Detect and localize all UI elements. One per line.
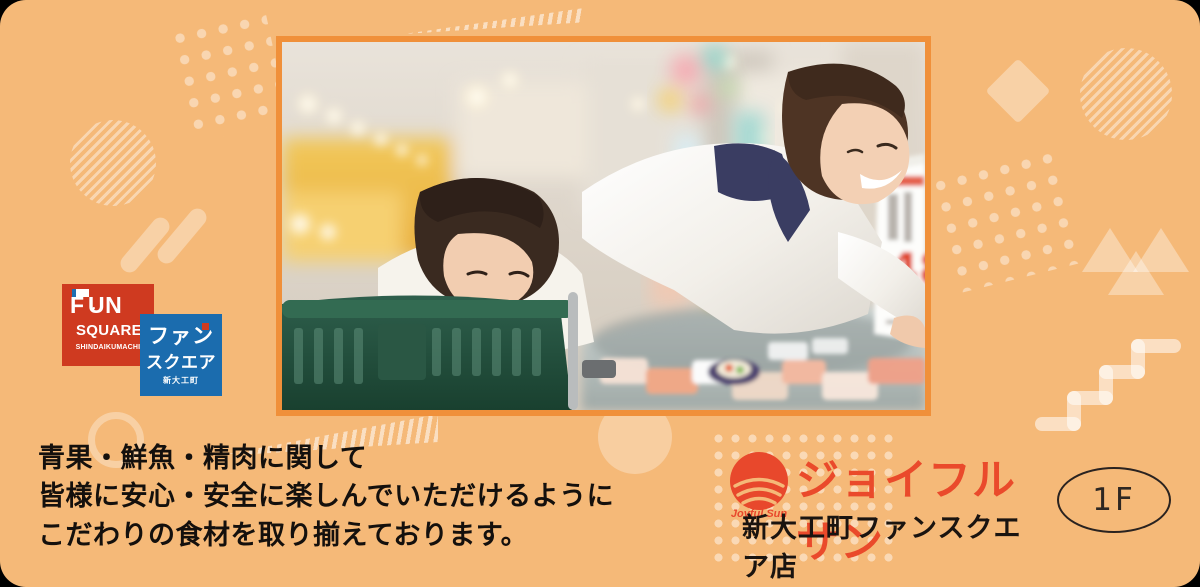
sun-icon <box>728 450 790 512</box>
square-wordmark: SQUARE <box>69 322 149 339</box>
tagline-line-2: 皆様に安心・安全に楽しんでいただけるように <box>38 478 658 516</box>
diagonal-bar-a <box>117 214 173 276</box>
striped-circle-left <box>70 120 156 206</box>
diamond-shape-right <box>985 58 1050 123</box>
fan-square-sub-label: 新大工町 <box>151 374 211 387</box>
staircase-line-shape <box>1035 325 1195 430</box>
red-tip-accent <box>202 323 209 330</box>
store-photo-frame: 480 51 <box>276 36 931 416</box>
heart-icon: ♥ <box>90 305 95 314</box>
striped-wedge-top <box>404 8 584 34</box>
dot-grid-pattern-right <box>927 146 1082 294</box>
fun-square-logo-group: F UN ♥ SQUARE SHINDAIKUMACHI ファン スクエア 新大… <box>62 284 232 396</box>
joyful-sun-brand: Joyful Sun ジョイフルサン 新大工町ファンスクエア店 <box>728 448 1038 543</box>
fan-square-line1: ファン <box>140 320 222 350</box>
floor-badge: 1F <box>1057 467 1171 533</box>
striped-circle-right <box>1080 48 1172 140</box>
triangle-shape-a <box>1082 228 1138 272</box>
fan-square-line2: スクエア <box>140 348 222 373</box>
store-photo: 480 51 <box>282 42 925 410</box>
flag-icon <box>72 289 89 297</box>
tagline-line-3: こだわりの食材を取り揃えております。 <box>38 517 658 555</box>
triangle-shape-c <box>1133 228 1189 272</box>
diagonal-bar-b <box>154 205 210 267</box>
fun-wordmark: F UN ♥ <box>70 292 146 318</box>
joyful-sun-store-name: 新大工町ファンスクエア店 <box>742 506 1038 584</box>
tagline-text: 青果・鮮魚・精肉に関して 皆様に安心・安全に楽しんでいただけるように こだわりの… <box>38 440 658 555</box>
triangle-shape-b <box>1108 251 1164 295</box>
fan-square-logo-box: ファン スクエア 新大工町 <box>140 314 222 396</box>
dot-grid-pattern-top-left <box>167 9 289 143</box>
tagline-line-1: 青果・鮮魚・精肉に関して <box>38 440 658 478</box>
store-info-card: 480 51 <box>0 0 1200 587</box>
